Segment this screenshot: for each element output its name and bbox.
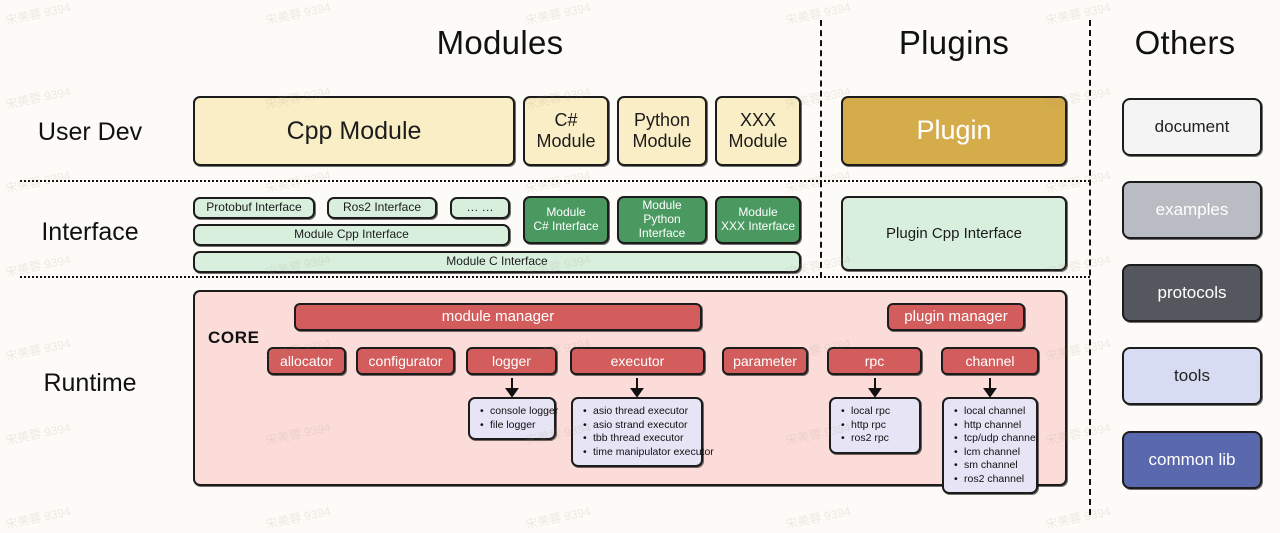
interface-box-plugin-cpp[interactable]: Plugin Cpp Interface bbox=[841, 196, 1067, 271]
watermark-text: 宋美蓉 9394 bbox=[4, 334, 72, 364]
row-label-user-dev: User Dev bbox=[0, 118, 180, 147]
core-component-rpc[interactable]: rpc bbox=[827, 347, 922, 375]
detail-list-logger: console loggerfile logger bbox=[468, 397, 556, 440]
row-label-runtime: Runtime bbox=[0, 369, 180, 398]
core-module-manager[interactable]: module manager bbox=[294, 303, 702, 331]
detail-items-rpc: local rpchttp rpcros2 rpc bbox=[837, 405, 911, 446]
core-component-executor[interactable]: executor bbox=[570, 347, 705, 375]
interface-box-ellipsis[interactable]: … … bbox=[450, 197, 510, 219]
others-box-tools[interactable]: tools bbox=[1122, 347, 1262, 405]
detail-item: file logger bbox=[490, 419, 546, 433]
core-label: CORE bbox=[208, 328, 260, 348]
watermark-text: 宋美蓉 9394 bbox=[784, 502, 852, 532]
detail-items-logger: console loggerfile logger bbox=[476, 405, 546, 432]
module-box-csharp[interactable]: C# Module bbox=[523, 96, 609, 166]
arrow-down-icon-rpc bbox=[868, 378, 882, 398]
detail-list-rpc: local rpchttp rpcros2 rpc bbox=[829, 397, 921, 454]
core-plugin-manager[interactable]: plugin manager bbox=[887, 303, 1025, 331]
detail-item: sm channel bbox=[964, 459, 1028, 473]
row-label-interface: Interface bbox=[0, 218, 180, 247]
detail-item: tbb thread executor bbox=[593, 432, 693, 446]
divider-modules-plugins bbox=[820, 20, 822, 278]
detail-list-executor: asio thread executorasio strand executor… bbox=[571, 397, 703, 467]
plugin-box[interactable]: Plugin bbox=[841, 96, 1067, 166]
detail-item: local channel bbox=[964, 405, 1028, 419]
interface-box-ros2[interactable]: Ros2 Interface bbox=[327, 197, 437, 219]
detail-item: http channel bbox=[964, 419, 1028, 433]
detail-item: ros2 channel bbox=[964, 473, 1028, 487]
core-component-parameter[interactable]: parameter bbox=[722, 347, 808, 375]
detail-item: ros2 rpc bbox=[851, 432, 911, 446]
watermark-text: 宋美蓉 9394 bbox=[4, 0, 72, 29]
divider-interface-runtime bbox=[20, 276, 1090, 278]
interface-box-module-csharp[interactable]: Module C# Interface bbox=[523, 196, 609, 244]
divider-plugins-others bbox=[1089, 20, 1091, 515]
watermark-text: 宋美蓉 9394 bbox=[1044, 502, 1112, 532]
detail-items-executor: asio thread executorasio strand executor… bbox=[579, 405, 693, 459]
watermark-text: 宋美蓉 9394 bbox=[4, 418, 72, 448]
detail-item: http rpc bbox=[851, 419, 911, 433]
detail-list-channel: local channelhttp channeltcp/udp channel… bbox=[942, 397, 1038, 494]
core-component-configurator[interactable]: configurator bbox=[356, 347, 455, 375]
interface-box-module-c[interactable]: Module C Interface bbox=[193, 251, 801, 273]
detail-item: tcp/udp channel bbox=[964, 432, 1028, 446]
column-header-plugins: Plugins bbox=[820, 24, 1088, 62]
detail-item: asio strand executor bbox=[593, 419, 693, 433]
watermark-text: 宋美蓉 9394 bbox=[4, 82, 72, 112]
detail-item: asio thread executor bbox=[593, 405, 693, 419]
watermark-text: 宋美蓉 9394 bbox=[4, 502, 72, 532]
module-box-cpp[interactable]: Cpp Module bbox=[193, 96, 515, 166]
others-box-document[interactable]: document bbox=[1122, 98, 1262, 156]
interface-box-module-python[interactable]: Module Python Interface bbox=[617, 196, 707, 244]
divider-userdev-interface bbox=[20, 180, 1090, 182]
arrow-down-icon-logger bbox=[505, 378, 519, 398]
others-box-common-lib[interactable]: common lib bbox=[1122, 431, 1262, 489]
arrow-down-icon-executor bbox=[630, 378, 644, 398]
core-component-logger[interactable]: logger bbox=[466, 347, 557, 375]
core-component-channel[interactable]: channel bbox=[941, 347, 1039, 375]
module-box-python[interactable]: Python Module bbox=[617, 96, 707, 166]
detail-items-channel: local channelhttp channeltcp/udp channel… bbox=[950, 405, 1028, 486]
others-box-protocols[interactable]: protocols bbox=[1122, 264, 1262, 322]
column-header-modules: Modules bbox=[180, 24, 820, 62]
interface-box-module-cpp[interactable]: Module Cpp Interface bbox=[193, 224, 510, 246]
module-box-xxx[interactable]: XXX Module bbox=[715, 96, 801, 166]
detail-item: lcm channel bbox=[964, 446, 1028, 460]
interface-box-protobuf[interactable]: Protobuf Interface bbox=[193, 197, 315, 219]
detail-item: local rpc bbox=[851, 405, 911, 419]
interface-box-module-xxx[interactable]: Module XXX Interface bbox=[715, 196, 801, 244]
arrow-down-icon-channel bbox=[983, 378, 997, 398]
detail-item: console logger bbox=[490, 405, 546, 419]
others-box-examples[interactable]: examples bbox=[1122, 181, 1262, 239]
column-header-others: Others bbox=[1090, 24, 1280, 62]
watermark-text: 宋美蓉 9394 bbox=[524, 502, 592, 532]
core-component-allocator[interactable]: allocator bbox=[267, 347, 346, 375]
detail-item: time manipulator executor bbox=[593, 446, 693, 460]
watermark-text: 宋美蓉 9394 bbox=[264, 502, 332, 532]
